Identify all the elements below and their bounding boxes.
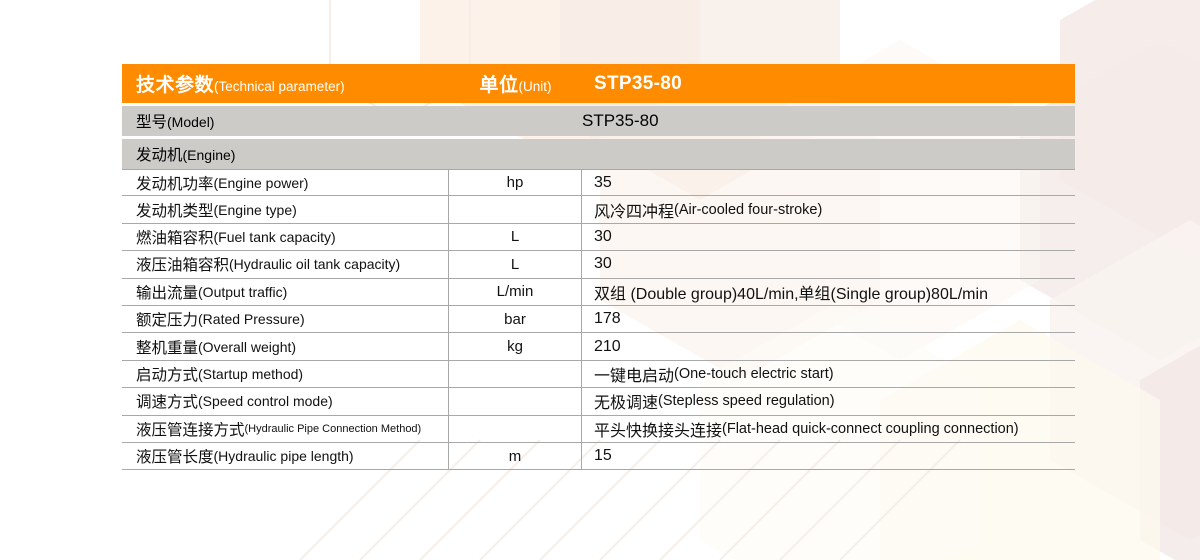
row-unit-value: L xyxy=(511,256,519,273)
row-parameter-cn: 调速方式 xyxy=(136,390,198,412)
row-value-cn: 35 xyxy=(594,174,612,192)
row-value-cell: 30 xyxy=(582,251,1075,277)
row-value-cell: 一键电启动(One-touch electric start) xyxy=(582,361,1075,387)
model-label-en: (Model) xyxy=(167,114,214,130)
row-parameter-cn: 输出流量 xyxy=(136,281,198,303)
model-row: 型号(Model) STP35-80 xyxy=(122,106,1075,136)
row-unit-cell xyxy=(449,196,582,222)
row-parameter-cell: 启动方式(Startup method) xyxy=(122,361,449,387)
row-parameter-en: (Overall weight) xyxy=(198,339,296,355)
row-parameter-cell: 发动机功率(Engine power) xyxy=(122,170,449,195)
row-value-cell: 210 xyxy=(582,333,1075,359)
row-parameter-en: (Startup method) xyxy=(198,366,303,382)
row-unit-cell xyxy=(449,416,582,442)
specification-table: 技术参数(Technical parameter) 单位(Unit) STP35… xyxy=(122,64,1075,470)
header-model-cell: STP35-80 xyxy=(582,73,1075,95)
row-unit-cell xyxy=(449,388,582,414)
row-value-cell: 平头快换接头连接 (Flat-head quick-connect coupli… xyxy=(582,416,1075,442)
row-unit-cell: hp xyxy=(449,170,582,195)
table-row: 调速方式(Speed control mode)无极调速 (Stepless s… xyxy=(122,388,1075,415)
row-parameter-cn: 额定压力 xyxy=(136,308,198,330)
row-parameter-cn: 液压油箱容积 xyxy=(136,253,229,275)
row-value-cn: 双组 (Double group)40L/min,单组(Single group… xyxy=(594,280,988,304)
row-parameter-en: (Engine power) xyxy=(214,175,309,191)
row-parameter-en: (Engine type) xyxy=(214,202,297,218)
row-parameter-en: (Speed control mode) xyxy=(198,393,333,409)
model-row-value-cell: STP35-80 xyxy=(449,111,1075,131)
row-parameter-cell: 液压管长度(Hydraulic pipe length) xyxy=(122,443,449,469)
row-parameter-cell: 燃油箱容积(Fuel tank capacity) xyxy=(122,224,449,250)
table-row: 液压管连接方式 (Hydraulic Pipe Connection Metho… xyxy=(122,416,1075,443)
header-unit-cell: 单位(Unit) xyxy=(449,70,582,97)
row-value-cell: 178 xyxy=(582,306,1075,332)
row-unit-value: L xyxy=(511,228,519,245)
row-parameter-en: (Hydraulic Pipe Connection Method) xyxy=(245,423,422,435)
row-parameter-cn: 燃油箱容积 xyxy=(136,226,214,248)
row-value-cell: 30 xyxy=(582,224,1075,250)
table-body: 发动机功率(Engine power)hp35发动机类型(Engine type… xyxy=(122,169,1075,470)
row-unit-cell: L xyxy=(449,224,582,250)
row-value-cn: 210 xyxy=(594,338,621,356)
row-value-cell: 35 xyxy=(582,170,1075,195)
table-row: 发动机类型(Engine type)风冷四冲程(Air-cooled four-… xyxy=(122,196,1075,223)
section-label-en: (Engine) xyxy=(183,147,236,163)
row-parameter-en: (Hydraulic oil tank capacity) xyxy=(229,256,400,272)
row-parameter-en: (Fuel tank capacity) xyxy=(214,229,336,245)
row-unit-cell: L/min xyxy=(449,279,582,305)
row-value-en: (Flat-head quick-connect coupling connec… xyxy=(722,421,1019,437)
table-row: 燃油箱容积(Fuel tank capacity)L30 xyxy=(122,224,1075,251)
table-row: 发动机功率(Engine power)hp35 xyxy=(122,169,1075,196)
row-unit-value: L/min xyxy=(497,283,534,300)
row-value-en: (Stepless speed regulation) xyxy=(658,393,835,409)
row-parameter-cell: 液压油箱容积(Hydraulic oil tank capacity) xyxy=(122,251,449,277)
row-unit-cell xyxy=(449,361,582,387)
row-unit-value: m xyxy=(509,448,522,465)
row-unit-cell: kg xyxy=(449,333,582,359)
row-parameter-cell: 发动机类型(Engine type) xyxy=(122,196,449,222)
header-parameter-en: (Technical parameter) xyxy=(214,79,345,94)
row-value-cn: 30 xyxy=(594,228,612,246)
header-parameter-cell: 技术参数(Technical parameter) xyxy=(122,70,449,97)
row-unit-value: bar xyxy=(504,311,526,328)
row-parameter-cell: 整机重量(Overall weight) xyxy=(122,333,449,359)
table-header-row: 技术参数(Technical parameter) 单位(Unit) STP35… xyxy=(122,64,1075,103)
header-unit-cn: 单位 xyxy=(479,75,518,96)
row-value-cell: 双组 (Double group)40L/min,单组(Single group… xyxy=(582,279,1075,305)
row-parameter-cn: 液压管长度 xyxy=(136,445,214,467)
row-value-en: (One-touch electric start) xyxy=(674,366,834,382)
row-parameter-cn: 发动机类型 xyxy=(136,199,214,221)
table-row: 液压油箱容积(Hydraulic oil tank capacity)L30 xyxy=(122,251,1075,278)
table-row: 输出流量(Output traffic)L/min双组 (Double grou… xyxy=(122,279,1075,306)
row-unit-cell: L xyxy=(449,251,582,277)
section-row-engine: 发动机(Engine) xyxy=(122,139,1075,169)
row-parameter-cell: 液压管连接方式 (Hydraulic Pipe Connection Metho… xyxy=(122,416,449,442)
section-label-cn: 发动机 xyxy=(136,147,183,164)
row-parameter-en: (Rated Pressure) xyxy=(198,311,305,327)
header-model-value: STP35-80 xyxy=(594,73,682,94)
row-value-cell: 15 xyxy=(582,443,1075,469)
table-row: 整机重量(Overall weight)kg210 xyxy=(122,333,1075,360)
row-value-cell: 风冷四冲程(Air-cooled four-stroke) xyxy=(582,196,1075,222)
row-value-cn: 15 xyxy=(594,447,612,465)
row-parameter-cn: 启动方式 xyxy=(136,363,198,385)
header-parameter-cn: 技术参数 xyxy=(136,75,214,96)
row-value-cell: 无极调速 (Stepless speed regulation) xyxy=(582,388,1075,414)
row-unit-cell: m xyxy=(449,443,582,469)
row-parameter-cell: 额定压力(Rated Pressure) xyxy=(122,306,449,332)
header-unit-en: (Unit) xyxy=(519,79,552,94)
row-value-cn: 无极调速 xyxy=(594,389,658,413)
model-row-value: STP35-80 xyxy=(582,111,659,130)
row-unit-cell: bar xyxy=(449,306,582,332)
section-row-label: 发动机(Engine) xyxy=(122,143,449,165)
row-parameter-cn: 发动机功率 xyxy=(136,172,214,194)
model-label-cn: 型号 xyxy=(136,114,167,131)
row-parameter-cn: 液压管连接方式 xyxy=(136,418,245,440)
row-value-en: (Air-cooled four-stroke) xyxy=(674,202,822,218)
table-row: 额定压力(Rated Pressure)bar178 xyxy=(122,306,1075,333)
row-value-cn: 一键电启动 xyxy=(594,362,674,386)
row-parameter-cell: 调速方式(Speed control mode) xyxy=(122,388,449,414)
row-value-cn: 178 xyxy=(594,310,621,328)
table-row: 启动方式(Startup method)一键电启动(One-touch elec… xyxy=(122,361,1075,388)
row-parameter-en: (Hydraulic pipe length) xyxy=(214,448,354,464)
row-unit-value: hp xyxy=(507,174,524,191)
row-parameter-en: (Output traffic) xyxy=(198,284,287,300)
table-row: 液压管长度(Hydraulic pipe length)m15 xyxy=(122,443,1075,470)
row-parameter-cn: 整机重量 xyxy=(136,336,198,358)
row-unit-value: kg xyxy=(507,338,523,355)
model-row-label: 型号(Model) xyxy=(122,110,449,132)
row-value-cn: 30 xyxy=(594,255,612,273)
row-value-cn: 平头快换接头连接 xyxy=(594,417,722,441)
row-value-cn: 风冷四冲程 xyxy=(594,198,674,222)
row-parameter-cell: 输出流量(Output traffic) xyxy=(122,279,449,305)
